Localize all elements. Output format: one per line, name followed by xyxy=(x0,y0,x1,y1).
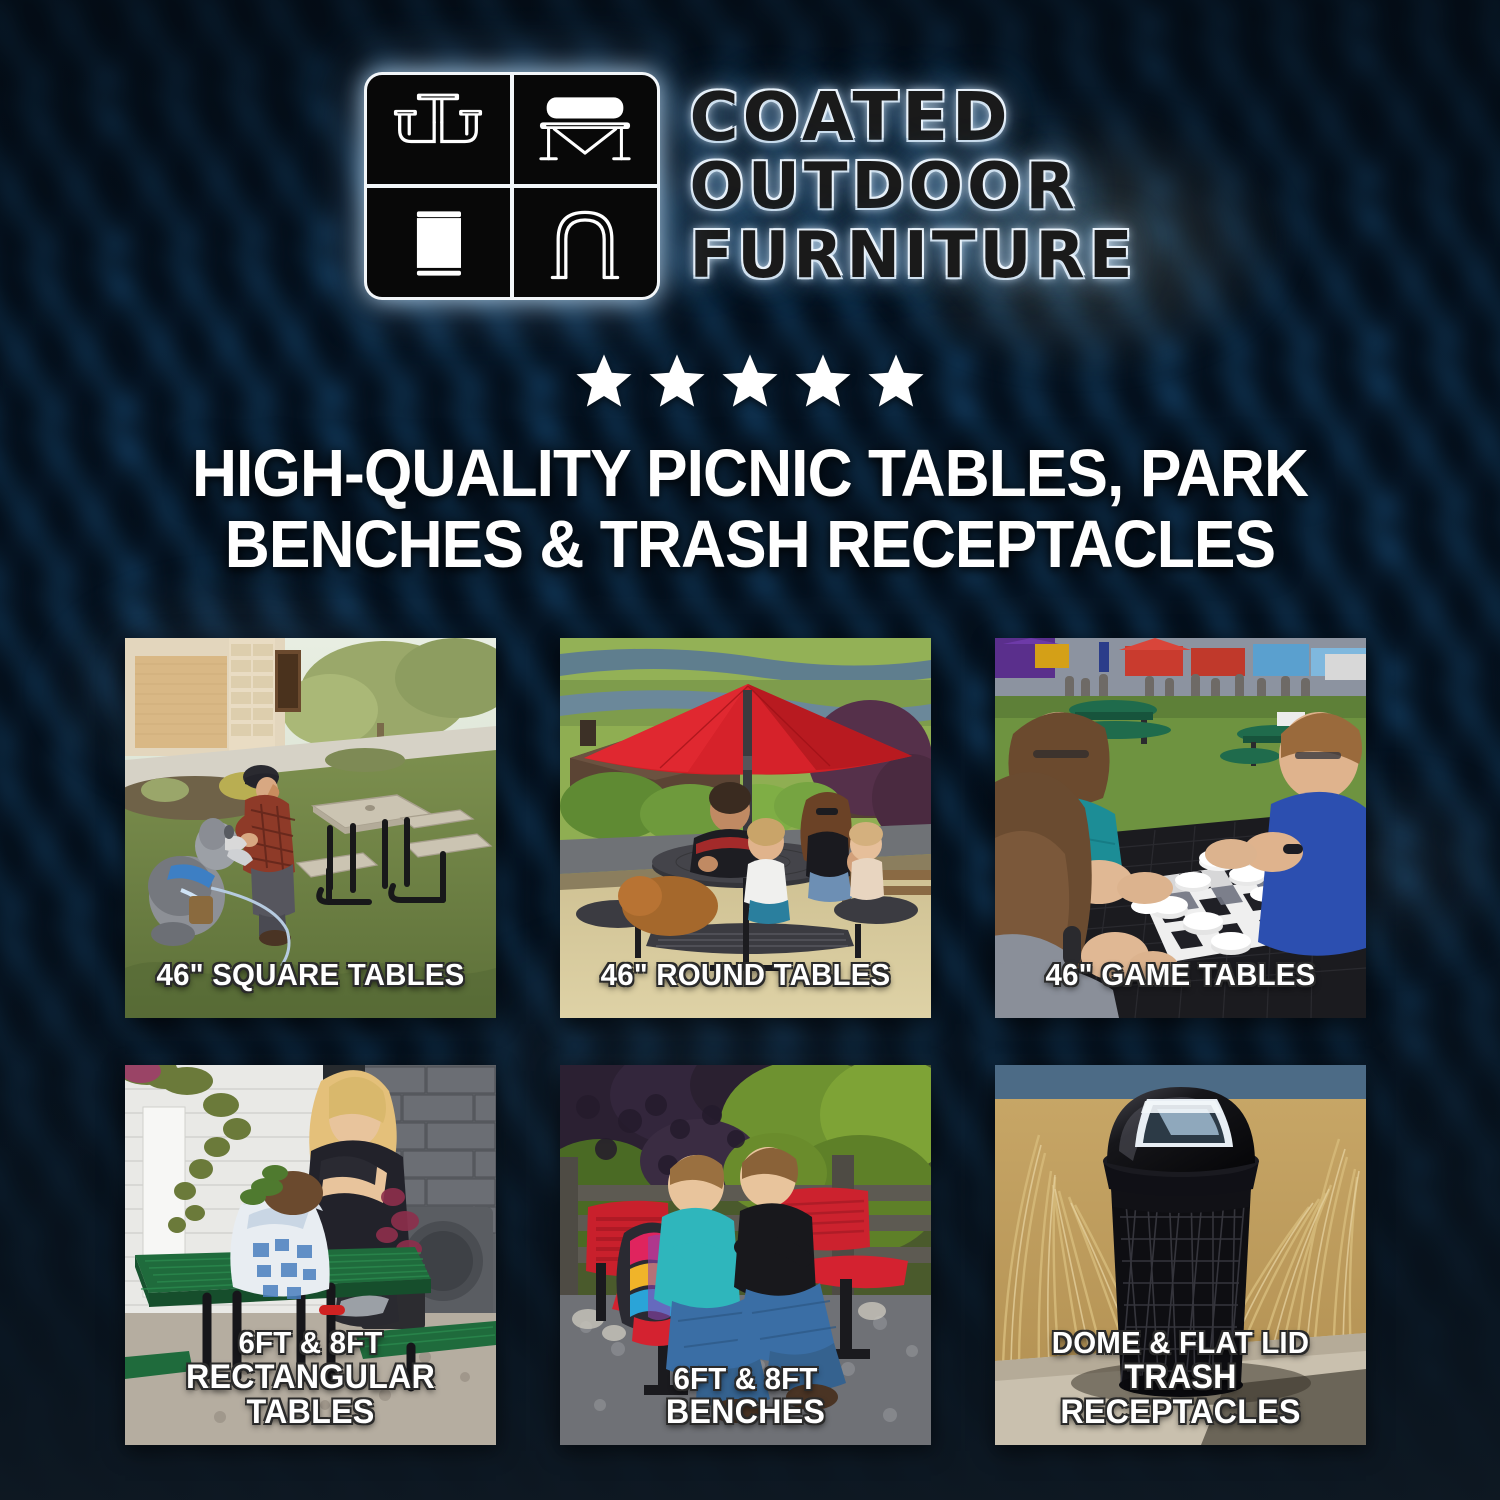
brand-line-2: OUTDOOR xyxy=(690,155,1137,220)
star-icon xyxy=(793,352,853,410)
caption-line-1: 6FT & 8FT xyxy=(142,1327,479,1360)
product-card-square-tables[interactable]: 46" SQUARE TABLES xyxy=(125,638,496,1018)
star-rating xyxy=(0,352,1500,410)
product-card-round-tables[interactable]: 46" ROUND TABLES xyxy=(560,638,931,1018)
product-caption: 6FT & 8FT BENCHES xyxy=(577,1363,914,1431)
caption-line-1: 46" SQUARE TABLES xyxy=(142,959,479,992)
product-grid: 46" SQUARE TABLES xyxy=(125,638,1375,1445)
trash-receptacle-icon xyxy=(367,188,510,297)
product-caption: 6FT & 8FT RECTANGULAR TABLES xyxy=(142,1327,479,1431)
brand-wordmark: COATED OUTDOOR FURNITURE xyxy=(690,83,1137,290)
coated-outdoor-furniture-logo xyxy=(364,72,660,300)
caption-line-2: RECTANGULAR TABLES xyxy=(142,1360,479,1431)
product-caption: DOME & FLAT LID TRASH RECEPTACLES xyxy=(1012,1327,1349,1431)
star-icon xyxy=(866,352,926,410)
product-card-benches[interactable]: 6FT & 8FT BENCHES xyxy=(560,1065,931,1445)
page-title: HIGH-QUALITY PICNIC TABLES, PARK BENCHES… xyxy=(108,438,1391,580)
brand-line-3: FURNITURE xyxy=(690,224,1137,289)
caption-line-1: 46" ROUND TABLES xyxy=(577,959,914,992)
star-icon xyxy=(574,352,634,410)
product-caption: 46" GAME TABLES xyxy=(1012,959,1349,992)
product-caption: 46" ROUND TABLES xyxy=(577,959,914,992)
caption-line-1: DOME & FLAT LID xyxy=(1012,1327,1349,1360)
bike-rack-arch-icon xyxy=(514,188,657,297)
brand-logo[interactable]: COATED OUTDOOR FURNITURE xyxy=(0,72,1500,300)
caption-line-2: TRASH RECEPTACLES xyxy=(1012,1360,1349,1431)
headline-line-2: BENCHES & TRASH RECEPTACLES xyxy=(108,509,1391,580)
square-picnic-table-icon xyxy=(367,75,510,184)
promo-banner: COATED OUTDOOR FURNITURE HIGH-QUALITY PI… xyxy=(0,0,1500,1500)
caption-line-1: 46" GAME TABLES xyxy=(1012,959,1349,992)
product-card-game-tables[interactable]: 46" GAME TABLES xyxy=(995,638,1366,1018)
star-icon xyxy=(720,352,780,410)
brand-line-1: COATED xyxy=(690,83,1137,151)
caption-line-2: BENCHES xyxy=(577,1395,914,1431)
product-card-trash-receptacles[interactable]: DOME & FLAT LID TRASH RECEPTACLES xyxy=(995,1065,1366,1445)
headline-line-1: HIGH-QUALITY PICNIC TABLES, PARK xyxy=(192,436,1308,511)
star-icon xyxy=(647,352,707,410)
caption-line-1: 6FT & 8FT xyxy=(577,1363,914,1396)
park-bench-icon xyxy=(514,75,657,184)
product-caption: 46" SQUARE TABLES xyxy=(142,959,479,992)
product-card-rectangular-tables[interactable]: 6FT & 8FT RECTANGULAR TABLES xyxy=(125,1065,496,1445)
